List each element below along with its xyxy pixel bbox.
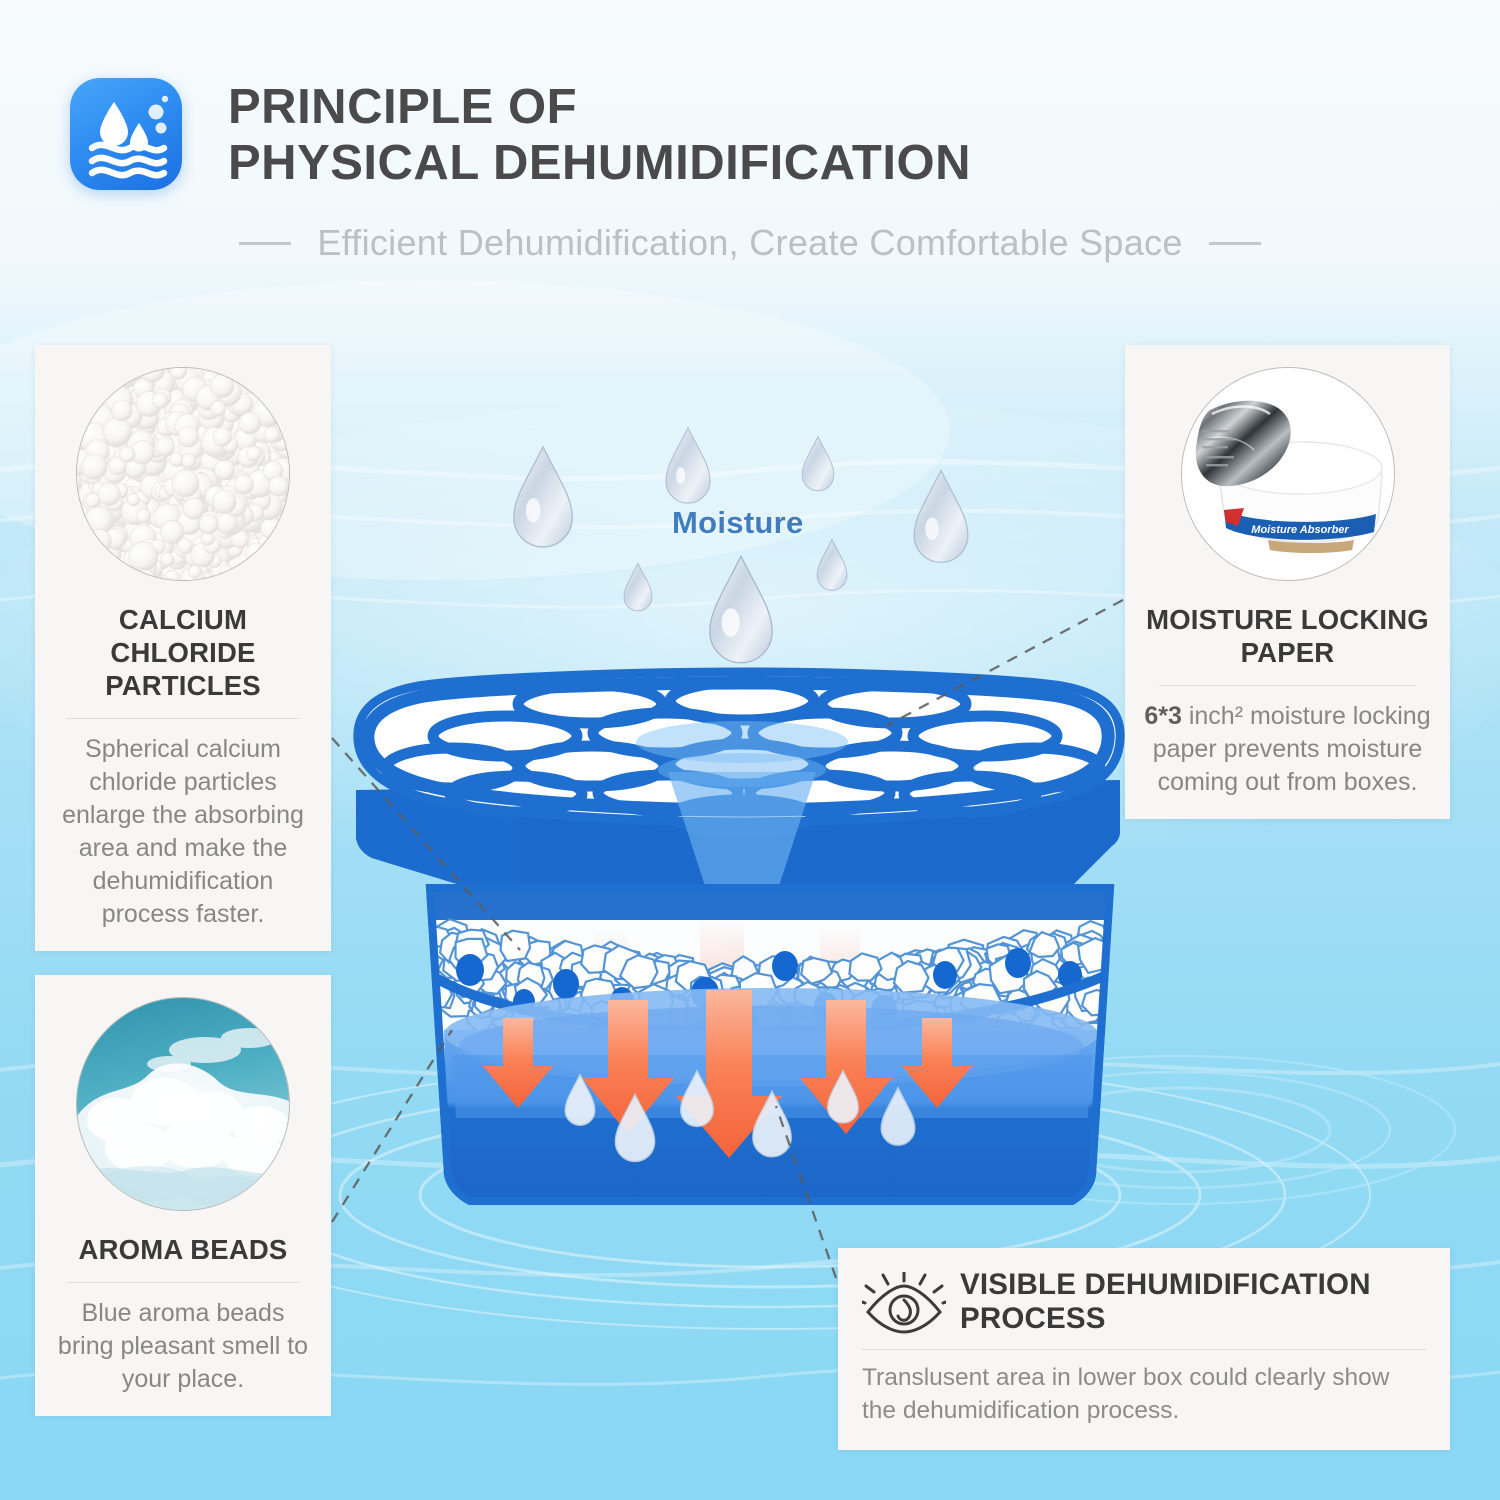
subtitle: Efficient Dehumidification, Create Comfo… [317, 222, 1182, 264]
card-body: Translusent area in lower box could clea… [862, 1362, 1426, 1428]
card-header-row: VISIBLE DEHUMIDIFICATION PROCESS [862, 1268, 1426, 1335]
connector-aroma [332, 1030, 452, 1222]
card-moisture-locking-paper: OCEAN BREEZE Moisture Absorber MOISTURE … [1125, 345, 1450, 819]
divider [862, 1349, 1426, 1350]
svg-text:OCEAN BREEZE: OCEAN BREEZE [1270, 514, 1330, 523]
subtitle-row: Efficient Dehumidification, Create Comfo… [0, 222, 1500, 264]
divider [67, 718, 299, 719]
dash-left-icon [239, 242, 291, 245]
eye-icon [862, 1272, 946, 1334]
calcium-chloride-particles-photo [76, 367, 290, 581]
water-drop-waves-icon [70, 78, 182, 190]
ocean-wave-aroma-photo [76, 997, 290, 1211]
card-calcium-chloride: CALCIUM CHLORIDE PARTICLES Spherical cal… [35, 345, 331, 951]
svg-text:Moisture Absorber: Moisture Absorber [1251, 524, 1349, 536]
header: PRINCIPLE OF PHYSICAL DEHUMIDIFICATION E… [0, 0, 1500, 300]
card-body-text: inch² moisture locking paper prevents mo… [1153, 702, 1431, 796]
divider [1159, 685, 1417, 686]
divider [67, 1282, 299, 1283]
moisture-label: Moisture [672, 505, 804, 541]
title-line-1: PRINCIPLE OF [228, 80, 971, 136]
card-body: 6*3 inch² moisture locking paper prevent… [1141, 700, 1434, 799]
card-title: AROMA BEADS [79, 1233, 288, 1266]
page-title: PRINCIPLE OF PHYSICAL DEHUMIDIFICATION [228, 80, 971, 192]
title-line-2: PHYSICAL DEHUMIDIFICATION [228, 136, 971, 192]
card-body: Blue aroma beads bring pleasant smell to… [51, 1297, 315, 1396]
card-aroma-beads: AROMA BEADS Blue aroma beads bring pleas… [35, 975, 331, 1416]
moisture-locking-paper-photo: OCEAN BREEZE Moisture Absorber [1181, 367, 1395, 581]
card-body: Spherical calcium chloride particles enl… [51, 733, 315, 931]
card-title: CALCIUM CHLORIDE PARTICLES [51, 603, 315, 702]
card-title: MOISTURE LOCKING PAPER [1141, 603, 1434, 669]
card-title: VISIBLE DEHUMIDIFICATION PROCESS [960, 1268, 1426, 1335]
card-body-highlight: 6*3 [1144, 702, 1182, 730]
moisture-drops-group [514, 428, 968, 663]
card-visible-dehumidification: VISIBLE DEHUMIDIFICATION PROCESS Translu… [838, 1248, 1450, 1450]
dash-right-icon [1209, 242, 1261, 245]
